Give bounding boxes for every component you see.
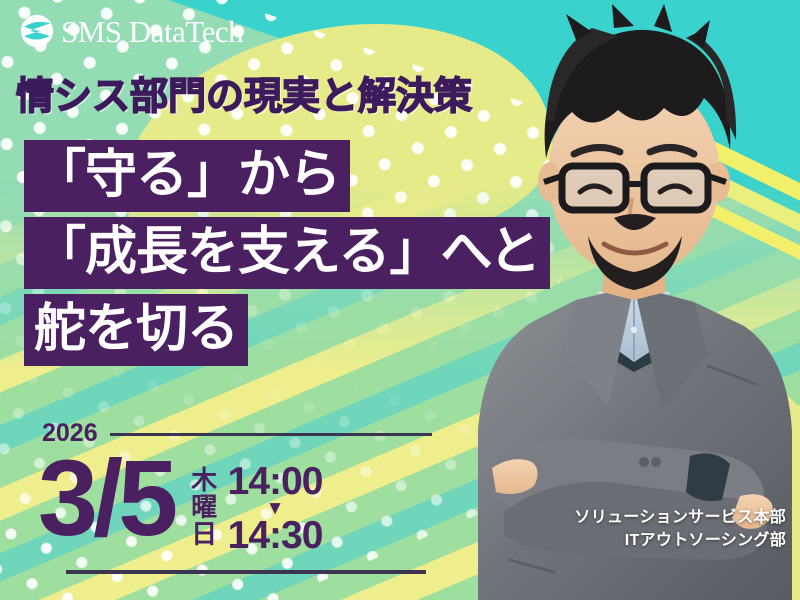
schedule-main-row: 3/5 木曜日 14:00 ▼ 14:30 bbox=[42, 448, 432, 562]
speaker-affiliation: ソリューションサービス本部 ITアウトソーシング部 bbox=[574, 506, 786, 552]
swoosh-s-icon bbox=[20, 14, 54, 48]
brand-logo[interactable]: SMS DataTech bbox=[20, 14, 243, 48]
title-line-2: 「成長を支える」へと bbox=[24, 217, 550, 289]
down-arrow-icon: ▼ bbox=[266, 503, 285, 514]
headline-subtitle: 情シス部門の現実と解決策 bbox=[16, 78, 472, 116]
schedule-bottom-rule bbox=[66, 570, 426, 574]
schedule-block: 2026 3/5 木曜日 14:00 ▼ 14:30 bbox=[42, 420, 432, 580]
schedule-top-rule bbox=[110, 433, 432, 436]
title-line-3: 舵を切る bbox=[24, 294, 248, 366]
schedule-date: 3/5 bbox=[38, 448, 173, 547]
brand-logo-text: SMS DataTech bbox=[61, 16, 243, 47]
title-line-1: 「守る」から bbox=[24, 140, 350, 212]
speaker-division: ソリューションサービス本部 bbox=[574, 506, 786, 529]
schedule-weekday: 木曜日 bbox=[189, 466, 216, 562]
schedule-time-start: 14:00 bbox=[228, 462, 323, 501]
schedule-times: 14:00 ▼ 14:30 bbox=[228, 462, 323, 555]
schedule-time-end: 14:30 bbox=[228, 516, 323, 555]
seminar-banner: SMS DataTech 情シス部門の現実と解決策 「守る」から 「成長を支える… bbox=[0, 0, 800, 600]
speaker-department: ITアウトソーシング部 bbox=[574, 529, 786, 552]
headline-title: 「守る」から 「成長を支える」へと 舵を切る bbox=[24, 140, 550, 366]
